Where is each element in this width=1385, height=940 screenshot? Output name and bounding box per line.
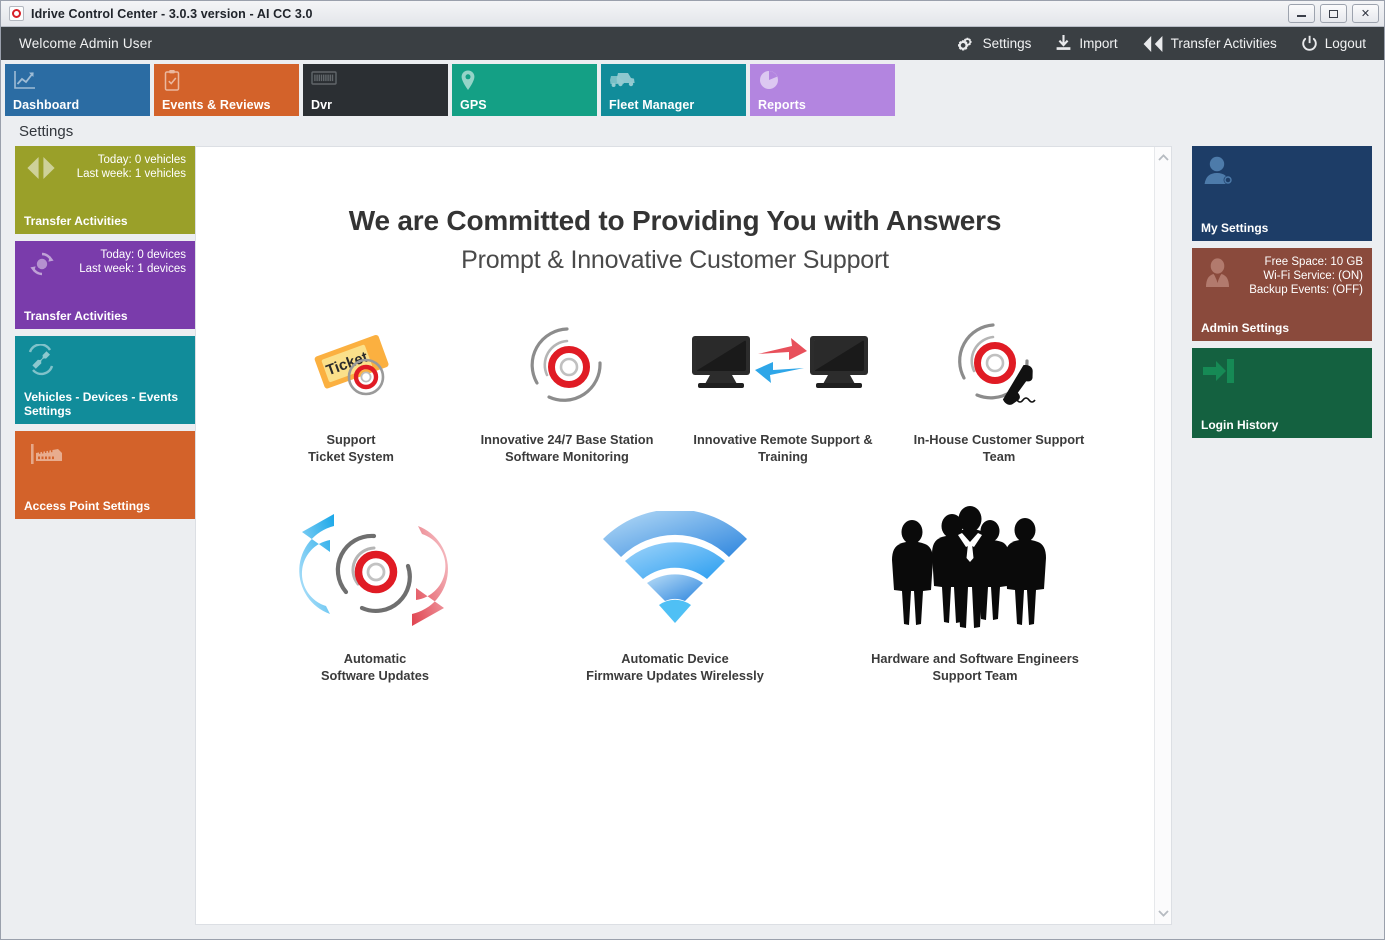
feature-row-2: AutomaticSoftware Updates <box>196 501 1154 684</box>
tab-events-reviews[interactable]: Events & Reviews <box>154 64 299 116</box>
tile-admin-settings[interactable]: Free Space: 10 GB Wi-Fi Service: (ON) Ba… <box>1192 248 1372 341</box>
transfer-arrows-icon <box>24 154 58 187</box>
feature-caption: AutomaticSoftware Updates <box>321 650 429 684</box>
team-silhouette-icon <box>880 501 1070 636</box>
feature-caption: SupportTicket System <box>308 431 394 465</box>
tab-dashboard-label: Dashboard <box>13 98 79 112</box>
tile-access-point-settings[interactable]: Access Point Settings <box>15 431 195 519</box>
tab-dvr[interactable]: Dvr <box>303 64 448 116</box>
chevron-up-icon[interactable] <box>1158 154 1169 161</box>
welcome-label: Welcome Admin User <box>19 36 152 51</box>
tile-title: Access Point Settings <box>24 499 158 513</box>
transfer-arrows-icon <box>1142 35 1164 53</box>
window-controls: ✕ <box>1288 4 1379 23</box>
target-phone-icon <box>951 313 1047 417</box>
header-import-label: Import <box>1079 36 1117 51</box>
login-door-icon <box>1201 356 1235 391</box>
header-settings-button[interactable]: Settings <box>956 35 1032 52</box>
user-avatar-icon <box>1201 154 1235 193</box>
header-transfer-activities-button[interactable]: Transfer Activities <box>1142 35 1277 53</box>
tab-fleet-manager-label: Fleet Manager <box>609 98 694 112</box>
tab-reports[interactable]: Reports <box>750 64 895 116</box>
wifi-signal-icon <box>599 501 751 636</box>
router-icon <box>24 439 68 478</box>
title-bar: Idrive Control Center - 3.0.3 version - … <box>1 1 1384 27</box>
feature-engineers-support-team: Hardware and Software EngineersSupport T… <box>825 501 1125 684</box>
tab-gps[interactable]: GPS <box>452 64 597 116</box>
feature-caption: In-House Customer SupportTeam <box>914 431 1085 465</box>
feature-caption: Automatic DeviceFirmware Updates Wireles… <box>586 650 764 684</box>
tile-vehicles-devices-events-settings[interactable]: Vehicles - Devices - Events Settings <box>15 336 195 424</box>
idrive-target-logo-icon <box>9 6 24 21</box>
tile-title: Login History <box>1201 418 1286 432</box>
vertical-scrollbar[interactable] <box>1154 147 1171 924</box>
tab-fleet-manager[interactable]: Fleet Manager <box>601 64 746 116</box>
download-icon <box>1055 35 1072 52</box>
maximize-button[interactable] <box>1320 4 1347 23</box>
tile-title: My Settings <box>1201 221 1276 235</box>
feature-grid: Ticket SupportTicket System <box>196 313 1154 684</box>
pie-chart-icon <box>758 78 780 95</box>
target-rings-icon <box>525 313 609 417</box>
right-rail: My Settings Free Space: 10 GB Wi-Fi Serv… <box>1192 146 1372 925</box>
feature-caption: Innovative 24/7 Base StationSoftware Mon… <box>481 431 654 465</box>
feature-caption: Hardware and Software EngineersSupport T… <box>871 650 1079 684</box>
tile-transfer-activities-devices[interactable]: Today: 0 devices Last week: 1 devices Tr… <box>15 241 195 329</box>
header-logout-button[interactable]: Logout <box>1301 35 1366 52</box>
tile-title: Transfer Activities <box>24 214 136 228</box>
wrench-icon <box>24 344 58 381</box>
map-pin-icon <box>460 79 476 96</box>
power-icon <box>1301 35 1318 52</box>
feature-row-1: Ticket SupportTicket System <box>196 313 1154 465</box>
admin-user-icon <box>1201 256 1235 295</box>
minimize-button[interactable] <box>1288 4 1315 23</box>
application-window: Idrive Control Center - 3.0.3 version - … <box>0 0 1385 940</box>
chart-trend-icon <box>13 78 37 95</box>
sync-circle-icon <box>24 249 60 284</box>
feature-automatic-software-updates: AutomaticSoftware Updates <box>225 501 525 684</box>
app-header: Welcome Admin User Settings <box>1 27 1384 60</box>
tab-reports-label: Reports <box>758 98 806 112</box>
content-panel: We are Committed to Providing You with A… <box>195 146 1172 925</box>
feature-inhouse-support-team: In-House Customer SupportTeam <box>891 313 1107 465</box>
page-body: Today: 0 vehicles Last week: 1 vehicles … <box>1 146 1384 939</box>
breadcrumb-label: Settings <box>19 123 73 140</box>
tab-dvr-label: Dvr <box>311 98 332 112</box>
two-monitors-exchange-icon <box>688 313 878 417</box>
main-tab-bar: Dashboard Events & Reviews <box>1 60 1384 116</box>
left-rail: Today: 0 vehicles Last week: 1 vehicles … <box>15 146 195 925</box>
tile-login-history[interactable]: Login History <box>1192 348 1372 438</box>
breadcrumb: Settings <box>1 116 1384 146</box>
feature-base-station-monitoring: Innovative 24/7 Base StationSoftware Mon… <box>459 313 675 465</box>
feature-remote-support-training: Innovative Remote Support &Training <box>675 313 891 465</box>
header-actions: Settings Import Transf <box>956 35 1374 53</box>
tile-my-settings[interactable]: My Settings <box>1192 146 1372 241</box>
page-title: We are Committed to Providing You with A… <box>196 205 1154 237</box>
close-button[interactable]: ✕ <box>1352 4 1379 23</box>
content-inner: We are Committed to Providing You with A… <box>196 147 1154 924</box>
header-transfer-activities-label: Transfer Activities <box>1171 36 1277 51</box>
tile-title: Transfer Activities <box>24 309 136 323</box>
support-ticket-icon: Ticket <box>302 313 400 417</box>
vehicles-icon <box>609 76 637 93</box>
header-settings-label: Settings <box>983 36 1032 51</box>
feature-device-firmware-updates: Automatic DeviceFirmware Updates Wireles… <box>525 501 825 684</box>
tile-title: Vehicles - Devices - Events Settings <box>24 390 195 418</box>
tab-gps-label: GPS <box>460 98 487 112</box>
gears-icon <box>956 35 976 52</box>
tab-dashboard[interactable]: Dashboard <box>5 64 150 116</box>
dvr-device-icon <box>311 74 337 91</box>
feature-caption: Innovative Remote Support &Training <box>693 431 872 465</box>
header-logout-label: Logout <box>1325 36 1366 51</box>
clipboard-check-icon <box>162 79 182 96</box>
tile-transfer-activities-vehicles[interactable]: Today: 0 vehicles Last week: 1 vehicles … <box>15 146 195 234</box>
header-import-button[interactable]: Import <box>1055 35 1117 52</box>
tile-title: Admin Settings <box>1201 321 1297 335</box>
tab-events-reviews-label: Events & Reviews <box>162 98 271 112</box>
window-title: Idrive Control Center - 3.0.3 version - … <box>31 7 313 21</box>
page-subtitle: Prompt & Innovative Customer Support <box>196 246 1154 275</box>
feature-support-ticket-system: Ticket SupportTicket System <box>243 313 459 465</box>
chevron-down-icon[interactable] <box>1158 910 1169 917</box>
refresh-target-icon <box>286 501 464 636</box>
